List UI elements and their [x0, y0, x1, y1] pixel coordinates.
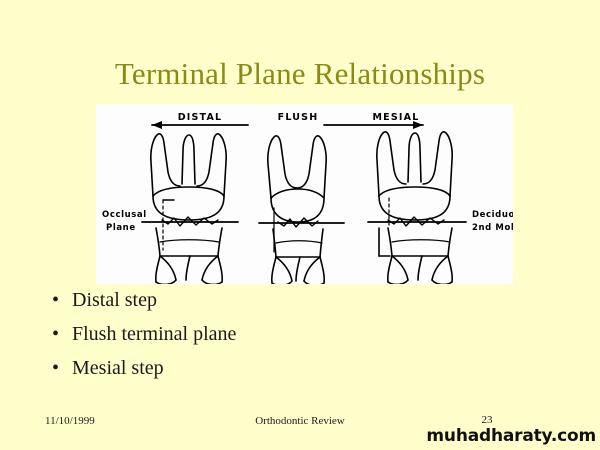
- figure-label-mesial: MESIAL: [373, 112, 420, 123]
- tooth-pair-mesial: [368, 132, 466, 284]
- figure-label-occlusal-plane-line1: Occlusal: [102, 210, 147, 220]
- footer-page-number: 23: [187, 413, 600, 427]
- bullet-marker-icon: •: [52, 356, 59, 380]
- figure-label-occlusal-plane-line2: Plane: [106, 223, 136, 233]
- bullet-marker-icon: •: [52, 322, 59, 346]
- list-item: • Mesial step: [38, 356, 458, 380]
- terminal-plane-diagram-svg: DISTAL FLUSH MESIAL Occlusal Plane Decid…: [96, 104, 513, 284]
- list-item: • Distal step: [38, 288, 458, 312]
- figure-label-flush: FLUSH: [278, 112, 319, 123]
- figure-label-distal: DISTAL: [178, 112, 223, 123]
- page-title: Terminal Plane Relationships: [0, 56, 600, 92]
- list-item-label: Mesial step: [72, 357, 164, 379]
- figure-label-deciduous-molars-line2: 2nd Molars: [472, 223, 513, 233]
- terminal-plane-figure: DISTAL FLUSH MESIAL Occlusal Plane Decid…: [96, 104, 513, 284]
- bullet-list: • Distal step • Flush terminal plane • M…: [38, 288, 458, 390]
- site-watermark: muhadharaty.com: [426, 426, 596, 446]
- list-item-label: Distal step: [72, 289, 157, 311]
- list-item-label: Flush terminal plane: [72, 323, 236, 345]
- list-item: • Flush terminal plane: [38, 322, 458, 346]
- figure-label-deciduous-molars-line1: Deciduous: [472, 210, 513, 220]
- tooth-pair-flush: [259, 136, 344, 284]
- presentation-slide: Terminal Plane Relationships: [0, 0, 600, 450]
- tooth-pair-distal: [142, 134, 238, 284]
- bullet-marker-icon: •: [52, 288, 59, 312]
